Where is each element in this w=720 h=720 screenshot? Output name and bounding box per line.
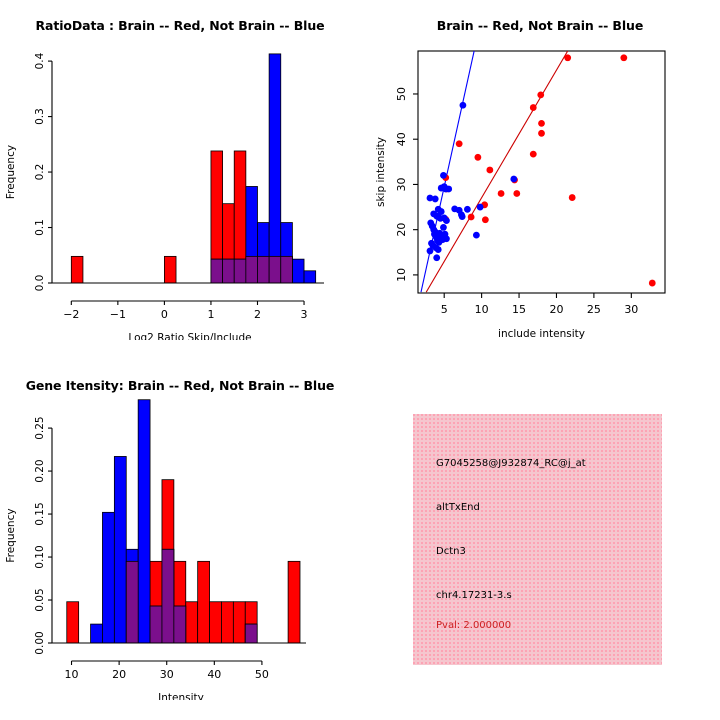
y-axis-tick-label: 0.10 bbox=[34, 545, 46, 568]
scatter-point-brain bbox=[538, 120, 545, 127]
histogram-bar-overlap bbox=[223, 259, 235, 283]
y-axis-tick-label: 50 bbox=[395, 87, 408, 101]
histogram-bar-not-brain bbox=[138, 400, 150, 643]
histogram-bar-overlap bbox=[162, 549, 174, 643]
x-axis-label: Intensity bbox=[158, 692, 204, 700]
gene-histogram-canvas: 0.000.050.100.150.200.251020304050Intens… bbox=[0, 360, 360, 700]
y-axis-tick-label: 0.05 bbox=[34, 588, 46, 611]
x-axis-tick-label: 20 bbox=[112, 668, 126, 681]
y-axis-tick-label: 0.25 bbox=[34, 416, 46, 439]
x-axis-tick-label: 25 bbox=[587, 303, 601, 316]
y-axis-tick-label: 0.2 bbox=[34, 164, 46, 181]
histogram-bar-brain bbox=[71, 256, 83, 283]
y-axis-tick-label: 0.20 bbox=[34, 459, 46, 482]
scatter-inner bbox=[421, 51, 656, 292]
probe-id-text: G7045258@J932874_RC@j_at bbox=[436, 458, 586, 469]
histogram-bar-overlap bbox=[234, 259, 246, 283]
scatter-point-not-brain bbox=[464, 206, 471, 213]
x-axis-tick-label: 50 bbox=[255, 668, 269, 681]
scatter-point-not-brain bbox=[440, 224, 447, 231]
annotation-box: G7045258@J932874_RC@j_at altTxEnd Dctn3 … bbox=[413, 414, 662, 665]
x-axis-tick-label: 5 bbox=[441, 303, 448, 316]
scatter-point-brain bbox=[498, 190, 505, 197]
event-type-text: altTxEnd bbox=[436, 502, 480, 513]
x-axis-tick-label: 2 bbox=[254, 308, 261, 321]
y-axis-label: Frequency bbox=[5, 508, 17, 562]
scatter-point-brain bbox=[513, 190, 520, 197]
x-axis: 1020304050 bbox=[65, 661, 269, 681]
scatter-point-brain bbox=[538, 130, 545, 137]
y-axis-tick-label: 20 bbox=[395, 223, 408, 237]
scatter-point-not-brain bbox=[510, 176, 517, 183]
scatter-point-brain bbox=[456, 140, 463, 147]
scatter-point-not-brain bbox=[460, 102, 467, 109]
x-axis-tick-label: 3 bbox=[301, 308, 308, 321]
scatter-point-not-brain bbox=[477, 204, 484, 211]
panel-ratio-histogram: RatioData : Brain -- Red, Not Brain -- B… bbox=[0, 0, 360, 360]
x-axis-tick-label: −2 bbox=[63, 308, 79, 321]
histogram-bar-brain bbox=[221, 602, 233, 643]
scatter-point-not-brain bbox=[473, 232, 480, 239]
histogram-bar-overlap bbox=[245, 624, 257, 643]
scatter-point-not-brain bbox=[445, 186, 452, 193]
scatter-point-not-brain bbox=[427, 248, 434, 255]
x-axis-label: include intensity bbox=[498, 328, 585, 340]
histogram-bar-not-brain bbox=[102, 512, 114, 643]
y-axis-label: Frequency bbox=[5, 145, 17, 199]
scatter-point-brain bbox=[649, 280, 656, 287]
y-axis-tick-label: 0.15 bbox=[34, 502, 46, 525]
histogram-bar-brain bbox=[233, 602, 245, 643]
x-axis-tick-label: 10 bbox=[65, 668, 79, 681]
scatter-point-brain bbox=[569, 194, 576, 201]
scatter-point-not-brain bbox=[433, 254, 440, 261]
scatter-point-not-brain bbox=[459, 213, 466, 220]
histogram-bars bbox=[67, 400, 300, 643]
histogram-bar-not-brain bbox=[304, 271, 316, 283]
histogram-bar-overlap bbox=[150, 606, 162, 643]
scatter-point-not-brain bbox=[443, 217, 450, 224]
pval-text: Pval: 2.000000 bbox=[436, 620, 511, 631]
x-axis-tick-label: 1 bbox=[207, 308, 214, 321]
y-axis: 0.000.050.100.150.200.25 bbox=[34, 416, 52, 654]
plot-box bbox=[418, 51, 665, 293]
histogram-bar-brain bbox=[210, 602, 222, 643]
histogram-bar-not-brain bbox=[269, 54, 281, 283]
histogram-bar-overlap bbox=[126, 561, 138, 643]
scatter-point-brain bbox=[620, 54, 627, 61]
scatter-plot-canvas: 510152025301020304050include intensitysk… bbox=[360, 0, 720, 340]
scatter-point-brain bbox=[468, 214, 475, 221]
y-axis-tick-label: 0.0 bbox=[34, 275, 46, 292]
scatter-point-not-brain bbox=[440, 172, 447, 179]
y-axis-tick-label: 0.1 bbox=[34, 219, 46, 236]
coordinate-text: chr4.17231-3.s bbox=[436, 590, 512, 601]
y-axis-tick-label: 0.3 bbox=[34, 108, 46, 125]
histogram-bar-overlap bbox=[211, 259, 223, 283]
scatter-point-not-brain bbox=[443, 235, 450, 242]
x-axis-tick-label: 30 bbox=[624, 303, 638, 316]
scatter-point-brain bbox=[537, 91, 544, 98]
x-axis-tick-label: 10 bbox=[475, 303, 489, 316]
histogram-bar-not-brain bbox=[91, 624, 103, 643]
histogram-bar-overlap bbox=[269, 256, 281, 283]
gene-histogram-title: Gene Itensity: Brain -- Red, Not Brain -… bbox=[0, 378, 360, 393]
y-axis-tick-label: 30 bbox=[395, 177, 408, 191]
scatter-point-brain bbox=[486, 167, 493, 174]
histogram-bar-brain bbox=[198, 561, 210, 643]
ratio-histogram-title: RatioData : Brain -- Red, Not Brain -- B… bbox=[0, 18, 360, 33]
x-axis: −2−10123 bbox=[63, 301, 307, 321]
histogram-bar-overlap bbox=[246, 256, 258, 283]
scatter-point-brain bbox=[474, 154, 481, 161]
histogram-bar-brain bbox=[288, 561, 300, 643]
histogram-bar-brain bbox=[67, 602, 79, 643]
x-axis-tick-label: 0 bbox=[161, 308, 168, 321]
scatter-point-brain bbox=[530, 104, 537, 111]
y-axis-tick-label: 0.00 bbox=[34, 631, 46, 654]
histogram-bar-not-brain bbox=[292, 259, 304, 283]
panel-scatter-plot: Brain -- Red, Not Brain -- Blue 51015202… bbox=[360, 0, 720, 360]
ratio-histogram-canvas: 0.00.10.20.30.4−2−10123Log2 Ratio Skip/I… bbox=[0, 0, 360, 340]
y-axis-tick-label: 10 bbox=[395, 268, 408, 282]
scatter-point-brain bbox=[482, 216, 489, 223]
gene-symbol-text: Dctn3 bbox=[436, 546, 466, 557]
scatter-point-not-brain bbox=[431, 231, 438, 238]
x-axis-tick-label: 15 bbox=[512, 303, 526, 316]
panel-gene-intensity-histogram: Gene Itensity: Brain -- Red, Not Brain -… bbox=[0, 360, 360, 720]
histogram-bar-overlap bbox=[281, 256, 293, 283]
panel-annotation-info: G7045258@J932874_RC@j_at altTxEnd Dctn3 … bbox=[360, 360, 720, 720]
scatter-plot-title: Brain -- Red, Not Brain -- Blue bbox=[360, 18, 720, 33]
x-axis-label: Log2 Ratio Skip/Include bbox=[128, 332, 251, 340]
scatter-point-brain bbox=[564, 54, 571, 61]
x-axis-tick-label: 40 bbox=[207, 668, 221, 681]
histogram-bar-brain bbox=[164, 256, 176, 283]
x-axis-tick-label: 30 bbox=[160, 668, 174, 681]
histogram-bar-overlap bbox=[174, 606, 186, 643]
y-axis: 0.00.10.20.30.4 bbox=[34, 52, 52, 291]
histogram-bars bbox=[71, 54, 315, 283]
histogram-bar-not-brain bbox=[114, 456, 126, 643]
scatter-point-brain bbox=[530, 151, 537, 158]
x-axis-tick-label: 20 bbox=[549, 303, 563, 316]
y-axis-label: skip intensity bbox=[375, 137, 387, 207]
histogram-bar-brain bbox=[186, 602, 198, 643]
x-axis-tick-label: −1 bbox=[110, 308, 126, 321]
y-axis: 1020304050 bbox=[395, 87, 418, 282]
histogram-bar-overlap bbox=[257, 256, 269, 283]
x-axis: 51015202530 bbox=[441, 293, 639, 316]
scatter-point-not-brain bbox=[432, 196, 439, 203]
scatter-point-not-brain bbox=[435, 246, 442, 253]
y-axis-tick-label: 0.4 bbox=[34, 52, 46, 69]
y-axis-tick-label: 40 bbox=[395, 132, 408, 146]
